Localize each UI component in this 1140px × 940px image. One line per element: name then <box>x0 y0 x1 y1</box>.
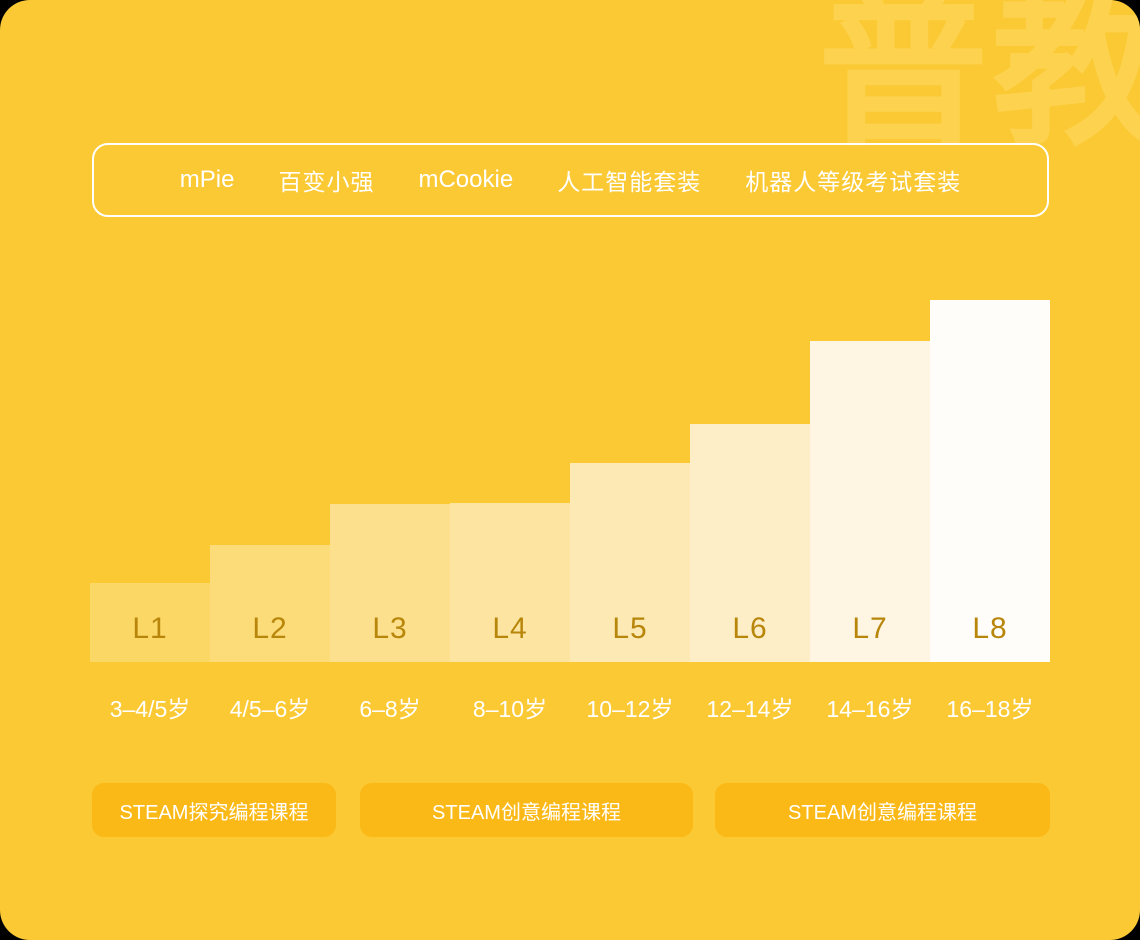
bar-l8[interactable]: L8 <box>930 300 1050 662</box>
age-label-l2: 4/5–6岁 <box>210 690 330 724</box>
age-label-l3: 6–8岁 <box>330 690 450 724</box>
nav-item-robot-exam-kit[interactable]: 机器人等级考试套装 <box>723 163 983 197</box>
nav-item-mcookie[interactable]: mCookie <box>396 166 535 194</box>
nav-item-baibianxiaoqiang[interactable]: 百变小强 <box>256 163 396 197</box>
watermark-text: 普教 <box>818 0 1140 156</box>
bar-label-l6: L6 <box>732 612 767 662</box>
course-button-creative-1[interactable]: STEAM创意编程课程 <box>360 783 693 837</box>
bar-l4[interactable]: L4 <box>450 503 570 662</box>
age-label-l8: 16–18岁 <box>930 690 1050 724</box>
bar-l5[interactable]: L5 <box>570 463 690 662</box>
age-label-l1: 3–4/5岁 <box>90 690 210 724</box>
course-level-card: 普教 mPie 百变小强 mCookie 人工智能套装 机器人等级考试套装 L1… <box>0 0 1140 940</box>
bar-label-l7: L7 <box>852 612 887 662</box>
bar-label-l8: L8 <box>972 612 1007 662</box>
course-button-explore[interactable]: STEAM探究编程课程 <box>92 783 336 837</box>
age-range-row: 3–4/5岁 4/5–6岁 6–8岁 8–10岁 10–12岁 12–14岁 1… <box>90 690 1050 724</box>
bar-label-l5: L5 <box>612 612 647 662</box>
bar-l1[interactable]: L1 <box>90 583 210 662</box>
nav-item-mpie[interactable]: mPie <box>158 166 257 194</box>
bar-label-l3: L3 <box>372 612 407 662</box>
age-label-l4: 8–10岁 <box>450 690 570 724</box>
age-label-l6: 12–14岁 <box>690 690 810 724</box>
bar-label-l1: L1 <box>132 612 167 662</box>
product-nav-bar: mPie 百变小强 mCookie 人工智能套装 机器人等级考试套装 <box>92 143 1049 217</box>
nav-item-ai-kit[interactable]: 人工智能套装 <box>535 163 723 197</box>
bar-l2[interactable]: L2 <box>210 545 330 662</box>
course-button-row: STEAM探究编程课程 STEAM创意编程课程 STEAM创意编程课程 <box>92 783 1050 837</box>
bar-label-l4: L4 <box>492 612 527 662</box>
age-label-l7: 14–16岁 <box>810 690 930 724</box>
level-bar-chart: L1 L2 L3 L4 L5 L6 L7 L8 <box>90 250 1050 662</box>
bar-group: L1 L2 L3 L4 L5 L6 L7 L8 <box>90 250 1050 662</box>
bar-l3[interactable]: L3 <box>330 504 450 662</box>
bar-label-l2: L2 <box>252 612 287 662</box>
age-label-l5: 10–12岁 <box>570 690 690 724</box>
course-button-creative-2[interactable]: STEAM创意编程课程 <box>715 783 1050 837</box>
bar-l6[interactable]: L6 <box>690 424 810 662</box>
bar-l7[interactable]: L7 <box>810 341 930 662</box>
